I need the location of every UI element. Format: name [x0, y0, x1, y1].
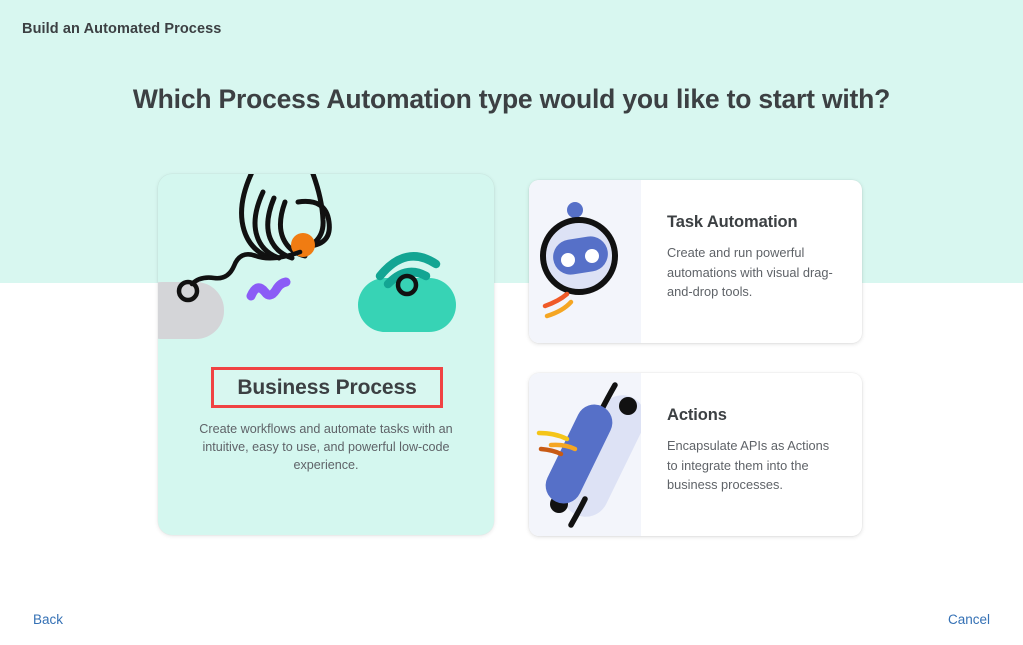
card-title-actions: Actions: [667, 406, 840, 425]
card-description-task-automation: Create and run powerful automations with…: [667, 243, 840, 302]
app-header-title: Build an Automated Process: [22, 21, 221, 37]
card-title-task-automation: Task Automation: [667, 213, 840, 232]
page-title: Which Process Automation type would you …: [0, 84, 1023, 115]
task-automation-text: Task Automation Create and run powerful …: [641, 180, 862, 343]
page-background-band: [0, 0, 1023, 283]
back-button[interactable]: Back: [33, 612, 63, 627]
rolling-pin-icon: [529, 373, 641, 536]
actions-text: Actions Encapsulate APIs as Actions to i…: [641, 373, 862, 536]
robot-face-icon: [529, 180, 641, 343]
hand-drawing-illustration: [158, 174, 494, 354]
business-process-title-highlight: Business Process: [211, 367, 443, 408]
card-description-actions: Encapsulate APIs as Actions to integrate…: [667, 436, 840, 495]
card-description-business-process: Create workflows and automate tasks with…: [196, 420, 456, 474]
card-business-process[interactable]: Business Process Create workflows and au…: [158, 174, 494, 535]
card-title-business-process: Business Process: [237, 376, 416, 400]
card-task-automation[interactable]: Task Automation Create and run powerful …: [529, 180, 862, 343]
card-actions[interactable]: Actions Encapsulate APIs as Actions to i…: [529, 373, 862, 536]
cancel-button[interactable]: Cancel: [948, 612, 990, 627]
